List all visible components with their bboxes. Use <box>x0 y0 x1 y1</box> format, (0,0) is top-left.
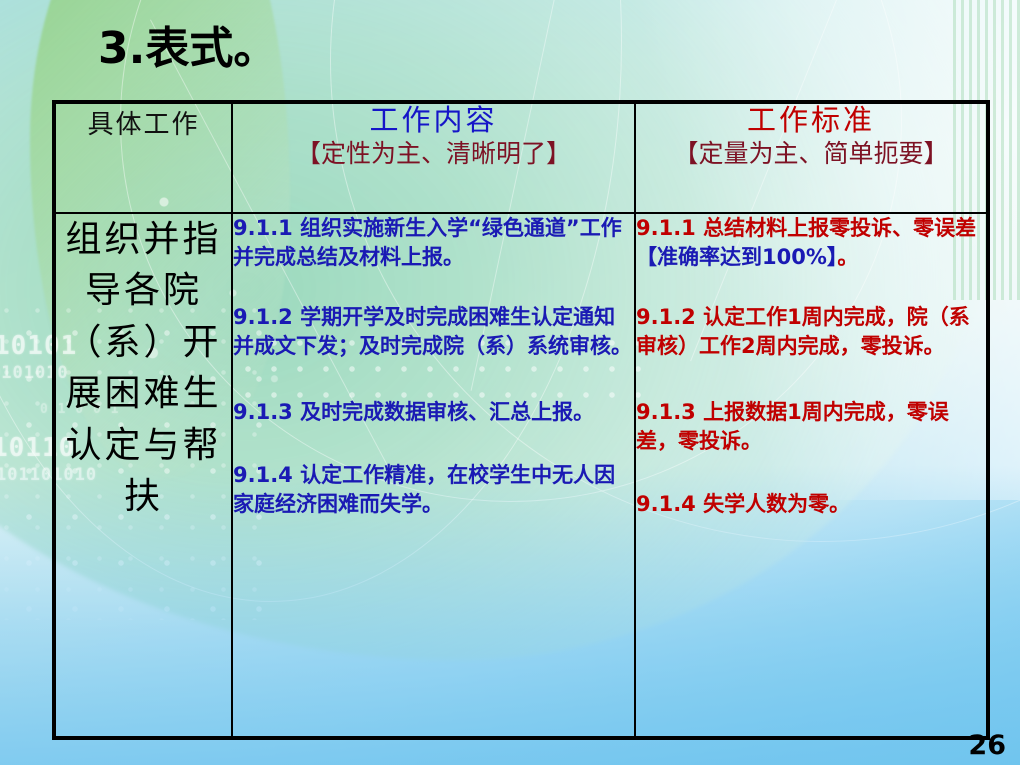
content-item-2: 9.1.2 学期开学及时完成困难生认定通知并成文下发；及时完成院（系）系统审核。 <box>233 303 634 362</box>
cell-work-content: 9.1.1 组织实施新生入学“绿色通道”工作并完成总结及材料上报。 9.1.2 … <box>232 213 635 738</box>
header-standard-sub: 【定量为主、简单扼要】 <box>636 140 986 168</box>
standard-item-2: 9.1.2 认定工作1周内完成，院（系审核）工作2周内完成，零投诉。 <box>636 303 986 362</box>
content-spacer-3 <box>233 427 634 461</box>
header-cell-standard: 工作标准 【定量为主、简单扼要】 <box>635 102 988 213</box>
header-standard-main: 工作标准 <box>636 104 986 136</box>
content-spacer-1 <box>233 273 634 303</box>
content-item-1: 9.1.1 组织实施新生入学“绿色通道”工作并完成总结及材料上报。 <box>233 214 634 273</box>
standard-item-1-text-red-tail: 。 <box>837 245 858 269</box>
page-title: 3.表式。 <box>98 26 277 72</box>
page-number: 26 <box>968 730 1006 761</box>
table-header-row: 具体工作 工作内容 【定性为主、清晰明了】 工作标准 【定量为主、简单扼要】 <box>54 102 988 213</box>
header-content-sub: 【定性为主、清晰明了】 <box>233 140 634 168</box>
content-item-4: 9.1.4 认定工作精准，在校学生中无人因家庭经济困难而失学。 <box>233 461 634 520</box>
standard-item-1-number: 9.1.1 <box>636 216 696 240</box>
standard-item-4-text: 失学人数为零。 <box>703 492 850 516</box>
content-item-2-number: 9.1.2 <box>233 305 293 329</box>
content-item-3-number: 9.1.3 <box>233 400 293 424</box>
standard-item-3-number: 9.1.3 <box>636 400 696 424</box>
standard-item-4: 9.1.4 失学人数为零。 <box>636 490 986 519</box>
standard-item-1-text-red: 总结材料上报零投诉、零误差 <box>703 216 976 240</box>
standard-spacer-1 <box>636 273 986 303</box>
content-spacer-2 <box>233 362 634 398</box>
content-item-3-text: 及时完成数据审核、汇总上报。 <box>300 400 594 424</box>
content-item-2-text: 学期开学及时完成困难生认定通知并成文下发；及时完成院（系）系统审核。 <box>233 305 632 358</box>
standard-spacer-2 <box>636 362 986 398</box>
content-item-4-number: 9.1.4 <box>233 463 293 487</box>
cell-task-description: 组织并指导各院（系）开展困难生认定与帮扶 <box>54 213 232 738</box>
table-body-row: 组织并指导各院（系）开展困难生认定与帮扶 9.1.1 组织实施新生入学“绿色通道… <box>54 213 988 738</box>
standard-item-4-number: 9.1.4 <box>636 492 696 516</box>
standard-item-1: 9.1.1 总结材料上报零投诉、零误差【准确率达到100%】。 <box>636 214 986 273</box>
content-item-1-number: 9.1.1 <box>233 216 293 240</box>
task-text: 组织并指导各院（系）开展困难生认定与帮扶 <box>56 214 231 523</box>
work-standards-table: 具体工作 工作内容 【定性为主、清晰明了】 工作标准 【定量为主、简单扼要】 组… <box>52 100 990 740</box>
content-item-3: 9.1.3 及时完成数据审核、汇总上报。 <box>233 398 634 427</box>
standard-item-1-text-blue: 【准确率达到100%】 <box>636 245 837 269</box>
standard-item-3: 9.1.3 上报数据1周内完成，零误差，零投诉。 <box>636 398 986 457</box>
cell-work-standard: 9.1.1 总结材料上报零投诉、零误差【准确率达到100%】。 9.1.2 认定… <box>635 213 988 738</box>
header-cell-content: 工作内容 【定性为主、清晰明了】 <box>232 102 635 213</box>
header-content-main: 工作内容 <box>233 104 634 136</box>
header-cell-task: 具体工作 <box>54 102 232 213</box>
standard-spacer-3 <box>636 456 986 490</box>
standard-item-2-number: 9.1.2 <box>636 305 696 329</box>
slide-canvas: 10101 0101010 0 1 0 0 1 10110 101101010 … <box>0 0 1020 765</box>
